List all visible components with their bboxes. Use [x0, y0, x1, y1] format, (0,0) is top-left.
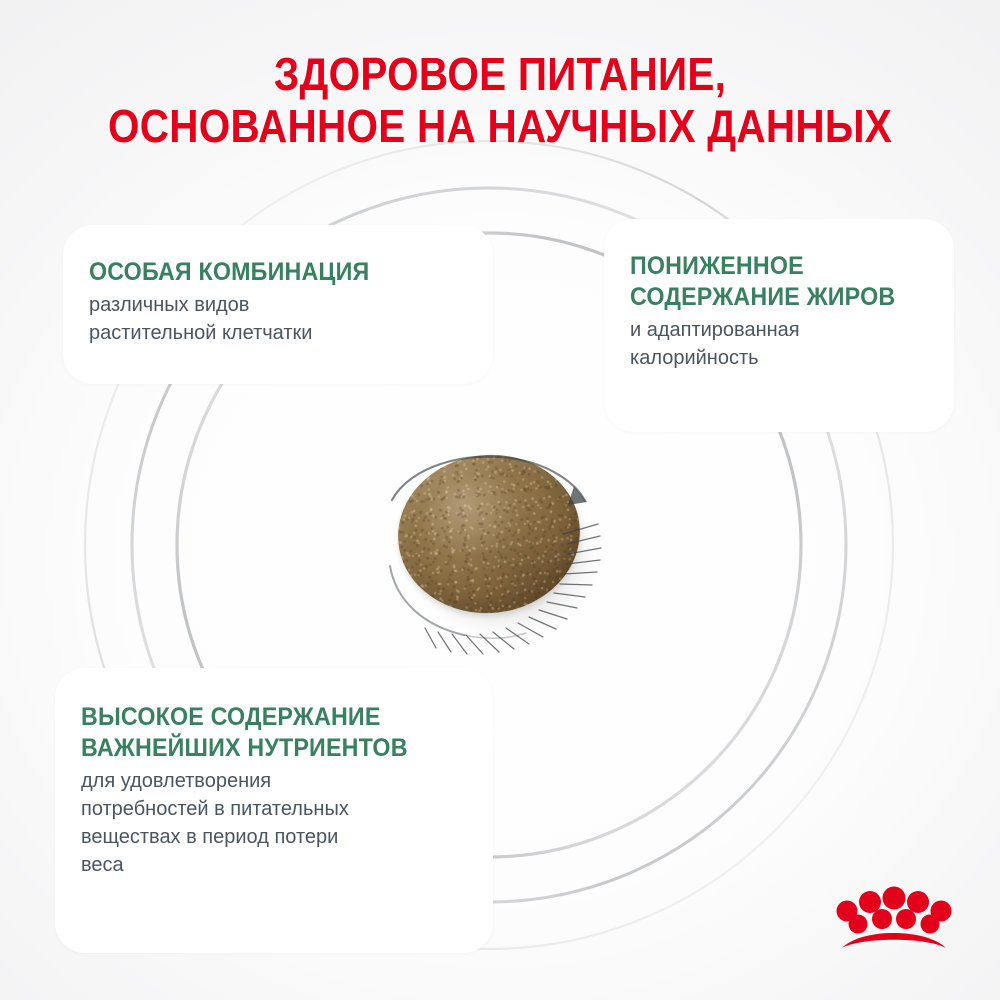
benefit-card-nutrients: ВЫСОКОЕ СОДЕРЖАНИЕ ВАЖНЕЙШИХ НУТРИЕНТОВ …	[55, 668, 493, 953]
benefit-card-fat-heading: ПОНИЖЕННОЕ СОДЕРЖАНИЕ ЖИРОВ	[630, 251, 911, 313]
page-title-line-1: ЗДОРОВОЕ ПИТАНИЕ,	[60, 48, 940, 100]
royal-canin-crown-logo	[828, 880, 960, 956]
benefit-card-nutrients-heading: ВЫСОКОЕ СОДЕРЖАНИЕ ВАЖНЕЙШИХ НУТРИЕНТОВ	[81, 702, 440, 764]
infographic-canvas: ЗДОРОВОЕ ПИТАНИЕ, ОСНОВАННОЕ НА НАУЧНЫХ …	[0, 0, 1000, 1000]
page-title: ЗДОРОВОЕ ПИТАНИЕ, ОСНОВАННОЕ НА НАУЧНЫХ …	[0, 48, 1000, 152]
benefit-card-fibre-body: различных видов растительной клетчатки	[89, 291, 467, 347]
benefit-card-nutrients-body: для удовлетворения потребностей в питате…	[81, 767, 467, 879]
benefit-card-fibre: ОСОБАЯ КОМБИНАЦИЯ различных видов растит…	[63, 225, 493, 384]
kibble-image	[398, 455, 588, 630]
benefit-card-fibre-heading: ОСОБАЯ КОМБИНАЦИЯ	[89, 257, 441, 288]
benefit-card-fat-body: и адаптированная калорийность	[630, 316, 932, 372]
page-title-line-2: ОСНОВАННОЕ НА НАУЧНЫХ ДАННЫХ	[60, 100, 940, 152]
benefit-card-fat: ПОНИЖЕННОЕ СОДЕРЖАНИЕ ЖИРОВ и адаптирова…	[604, 219, 954, 432]
